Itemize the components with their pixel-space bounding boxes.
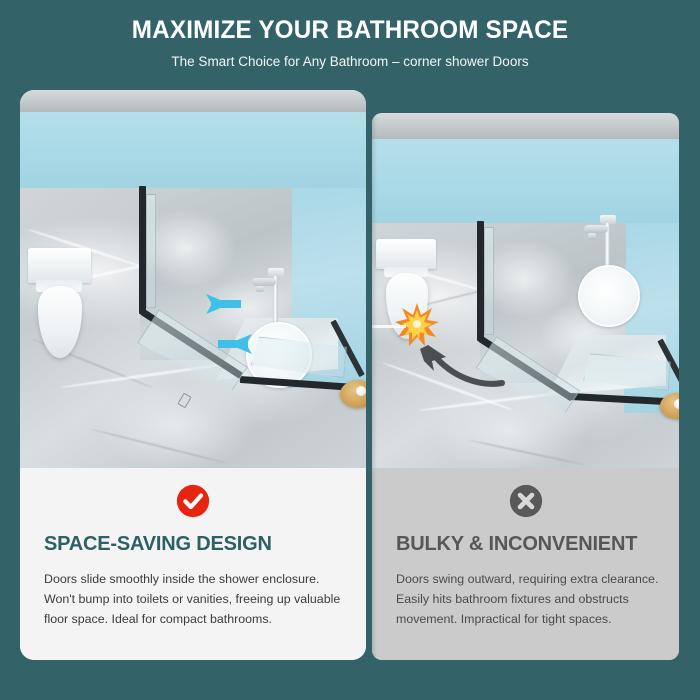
poster-root: MAXIMIZE YOUR BATHROOM SPACE The Smart C… [0, 0, 700, 700]
floor-vein [90, 428, 226, 464]
shower-valve [252, 278, 276, 286]
scene-sliding-shower [20, 90, 366, 468]
scene-swinging-shower [372, 113, 679, 468]
back-wall [372, 139, 679, 223]
panel-space-saving[interactable]: SPACE-SAVING DESIGN Doors slide smoothly… [20, 90, 366, 660]
x-circle-icon [509, 484, 543, 518]
glass-panel-side [146, 194, 156, 308]
header: MAXIMIZE YOUR BATHROOM SPACE The Smart C… [0, 0, 700, 90]
swing-arrow-icon [402, 331, 512, 391]
page-subtitle: The Smart Choice for Any Bathroom – corn… [0, 45, 700, 69]
panel-title-bad: BULKY & INCONVENIENT [372, 518, 679, 556]
page-title: MAXIMIZE YOUR BATHROOM SPACE [11, 0, 690, 45]
panel-text-bulky: BULKY & INCONVENIENT Doors swing outward… [372, 468, 679, 660]
baseboard-line [372, 325, 406, 328]
shower-handle [588, 233, 596, 239]
double-slide-arrow-icon [170, 288, 290, 368]
panel-bulky[interactable]: BULKY & INCONVENIENT Doors swing outward… [372, 113, 679, 660]
panel-body-bad: Doors swing outward, requiring extra cle… [372, 556, 679, 629]
frame-vertical [139, 186, 146, 314]
panel-title-good: SPACE-SAVING DESIGN [20, 518, 366, 556]
shower-valve [584, 225, 608, 233]
check-circle-icon [176, 484, 210, 518]
floor-vein [468, 439, 586, 466]
wood-stool-knob [674, 399, 679, 409]
panel-body-good: Doors slide smoothly inside the shower e… [20, 556, 366, 629]
back-wall [20, 112, 366, 188]
panel-text-space-saving: SPACE-SAVING DESIGN Doors slide smoothly… [20, 468, 366, 660]
frame-vertical [477, 221, 484, 341]
toilet-tank [28, 248, 91, 283]
ceiling-strip [20, 90, 366, 112]
ceiling-strip [372, 113, 679, 139]
toilet-tank [376, 239, 436, 269]
wood-stool-knob [356, 386, 366, 396]
glass-panel-side [484, 227, 494, 335]
shower-head [578, 265, 640, 327]
